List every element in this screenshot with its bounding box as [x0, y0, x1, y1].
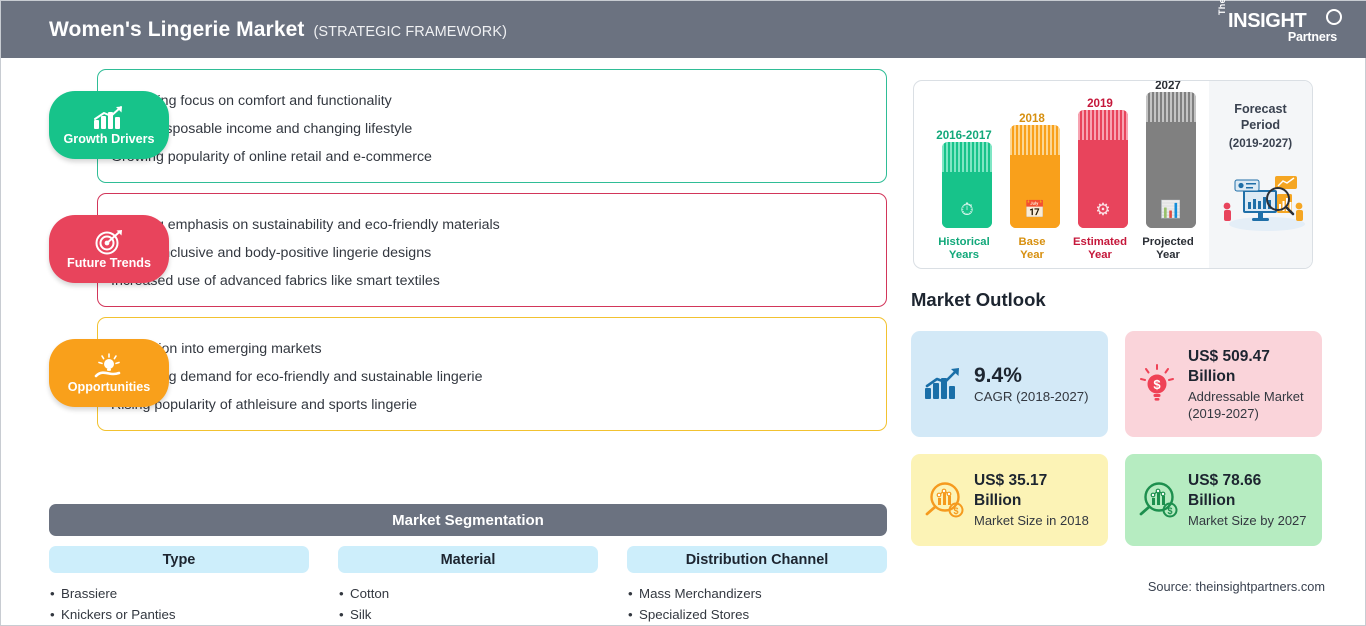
segmentation-column-material: Material Cotton Silk Satin [338, 546, 598, 626]
forecast-title: Forecast Period [1234, 101, 1287, 133]
badge-future-trends[interactable]: Future Trends [49, 215, 169, 283]
card-value: US$ 78.66 [1188, 471, 1312, 491]
list-item: Brassiere [49, 584, 309, 605]
bar-2018: 📅 [1010, 125, 1060, 228]
page-header: Women's Lingerie Market(STRATEGIC FRAMEW… [1, 1, 1366, 58]
outlook-cards: 9.4% CAGR (2018-2027) [911, 331, 1325, 546]
market-segmentation-header: Market Segmentation [49, 504, 887, 536]
magnifier-chart-dollar-icon: $ [1135, 480, 1179, 520]
bar-2016-2017: ⏱ [942, 142, 992, 228]
left-column: Increasing focus on comfort and function… [1, 58, 901, 441]
card-value: 9.4% [974, 364, 1098, 388]
page-subtitle: (STRATEGIC FRAMEWORK) [313, 24, 507, 40]
bar-year-label: 2027 [1138, 80, 1198, 92]
column-list: Cotton Silk Satin [338, 584, 598, 626]
card-label: Market Size by 2027 [1188, 512, 1312, 529]
future-trends-bullets: Growing emphasis on sustainability and e… [97, 211, 883, 295]
badge-growth-drivers[interactable]: Growth Drivers [49, 91, 169, 159]
bullet-item: Growing emphasis on sustainability and e… [97, 211, 883, 239]
section-growth-drivers: Increasing focus on comfort and function… [1, 69, 901, 193]
section-future-trends: Growing emphasis on sustainability and e… [1, 193, 901, 317]
svg-text:$: $ [1153, 377, 1161, 392]
bar-year-label: 2019 [1070, 97, 1130, 110]
infographic-page: Women's Lingerie Market(STRATEGIC FRAMEW… [0, 0, 1366, 626]
card-value-unit: Billion [1188, 491, 1312, 511]
market-timeline-chart: 2016-2017 ⏱ Historical Years 2018 [913, 80, 1313, 269]
segmentation-column-type: Type Brassiere Knickers or Panties Shape… [49, 546, 309, 626]
outlook-card-market-size-2018: $ US$ 35.17 Billion Market Size in 2018 [911, 454, 1108, 546]
card-text: US$ 509.47 Billion Addressable Market (2… [1188, 347, 1312, 422]
column-list: Brassiere Knickers or Panties Shapewear [49, 584, 309, 626]
page-title: Women's Lingerie Market(STRATEGIC FRAMEW… [49, 18, 507, 42]
list-item: Cotton [338, 584, 598, 605]
card-value-unit: Billion [1188, 367, 1312, 387]
page-title-text: Women's Lingerie Market [49, 18, 304, 41]
bar-year-label: 2018 [1002, 112, 1062, 125]
card-label: Market Size in 2018 [974, 512, 1098, 529]
badge-label: Growth Drivers [64, 132, 155, 146]
presentation-chart-icon: 📊 [1146, 200, 1196, 220]
hand-lightbulb-icon [92, 353, 126, 379]
list-item: Knickers or Panties [49, 605, 309, 626]
forecast-period-panel: Forecast Period (2019-2027) [1209, 81, 1312, 269]
bullet-item: Rising popularity of athleisure and spor… [97, 391, 883, 419]
outlook-card-addressable-market: $ US$ 509.47 Billion Addressable Market … [1125, 331, 1322, 437]
svg-text:$: $ [953, 506, 958, 516]
bar-caption: Projected Year [1134, 236, 1202, 262]
bar-year-label: 2016-2017 [934, 129, 994, 142]
bar-2027: 📊 [1146, 92, 1196, 228]
badge-opportunities[interactable]: Opportunities [49, 339, 169, 407]
bar-chart-arrow-icon [92, 105, 126, 131]
forecast-range: (2019-2027) [1229, 137, 1292, 150]
bar-2019: ⚙ [1078, 110, 1128, 228]
outlook-card-cagr: 9.4% CAGR (2018-2027) [911, 331, 1108, 437]
segmentation-columns: Type Brassiere Knickers or Panties Shape… [49, 546, 887, 626]
bar-caption: Base Year [998, 236, 1066, 262]
target-dart-icon [93, 229, 125, 255]
lightbulb-dollar-icon: $ [1135, 364, 1179, 404]
logo-the-text: The [1217, 0, 1227, 15]
column-header: Type [49, 546, 309, 573]
calendar-icon: 📅 [1010, 200, 1060, 220]
card-value-unit: Billion [974, 491, 1098, 511]
card-value: US$ 509.47 [1188, 347, 1312, 367]
opportunities-bullets: Expansion into emerging markets Increasi… [97, 335, 883, 419]
card-value: US$ 35.17 [974, 471, 1098, 491]
segmentation-column-distribution-channel: Distribution Channel Mass Merchandizers … [627, 546, 887, 626]
logo-partners-text: Partners [1288, 30, 1337, 44]
badge-label: Future Trends [67, 256, 151, 270]
bullet-item: Rising disposable income and changing li… [97, 115, 883, 143]
card-label: CAGR (2018-2027) [974, 388, 1098, 405]
badge-label: Opportunities [68, 380, 151, 394]
clock-history-icon: ⏱ [942, 200, 992, 220]
bullet-item: Increased use of advanced fabrics like s… [97, 267, 883, 295]
bullet-item: Growing popularity of online retail and … [97, 143, 883, 171]
column-list: Mass Merchandizers Specialized Stores On… [627, 584, 887, 626]
section-opportunities: Expansion into emerging markets Increasi… [1, 317, 901, 441]
list-item: Specialized Stores [627, 605, 887, 626]
column-header: Material [338, 546, 598, 573]
svg-text:$: $ [1167, 506, 1172, 516]
growth-drivers-bullets: Increasing focus on comfort and function… [97, 87, 883, 171]
growth-chart-icon [921, 366, 965, 402]
data-analysis-illustration [1215, 166, 1307, 237]
bullet-item: Increasing demand for eco-friendly and s… [97, 363, 883, 391]
card-label: Addressable Market (2019-2027) [1188, 388, 1312, 422]
bullet-item: Rise of inclusive and body-positive ling… [97, 239, 883, 267]
market-outlook-title: Market Outlook [911, 289, 1046, 311]
card-text: 9.4% CAGR (2018-2027) [974, 364, 1098, 405]
bar-caption: Historical Years [930, 236, 998, 262]
column-header: Distribution Channel [627, 546, 887, 573]
list-item: Silk [338, 605, 598, 626]
card-text: US$ 35.17 Billion Market Size in 2018 [974, 471, 1098, 529]
bullet-item: Increasing focus on comfort and function… [97, 87, 883, 115]
logo-circle-icon [1326, 9, 1342, 25]
source-attribution: Source: theinsightpartners.com [911, 579, 1325, 594]
insight-partners-logo: The INSIGHT Partners [1215, 9, 1345, 51]
market-segmentation-title: Market Segmentation [392, 512, 544, 529]
outlook-card-market-size-2027: $ US$ 78.66 Billion Market Size by 2027 [1125, 454, 1322, 546]
card-text: US$ 78.66 Billion Market Size by 2027 [1188, 471, 1312, 529]
list-item: Mass Merchandizers [627, 584, 887, 605]
timeline-bars: 2016-2017 ⏱ Historical Years 2018 [914, 81, 1204, 269]
magnifier-chart-dollar-icon: $ [921, 480, 965, 520]
analytics-gear-icon: ⚙ [1078, 200, 1128, 220]
bullet-item: Expansion into emerging markets [97, 335, 883, 363]
bar-caption: Estimated Year [1066, 236, 1134, 262]
